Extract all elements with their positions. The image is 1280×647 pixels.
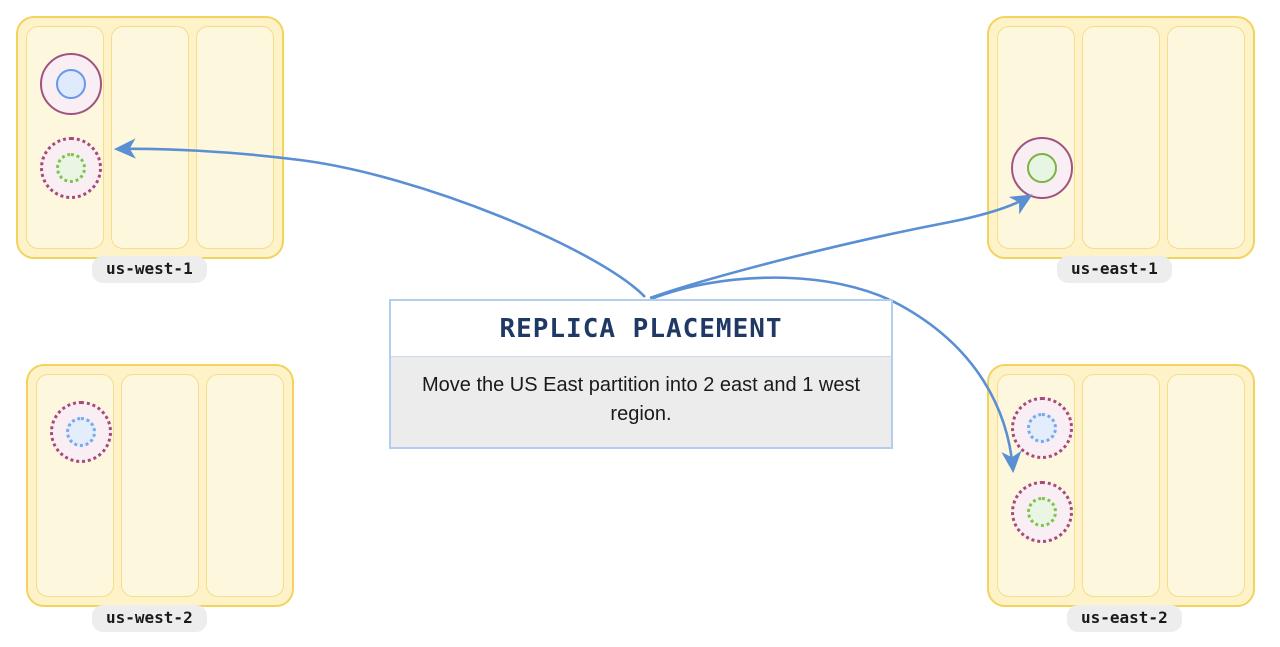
replica-token-solid-blue[interactable] xyxy=(40,53,102,115)
replica-inner-ring-icon xyxy=(56,153,86,183)
replica-token-dotted-green[interactable] xyxy=(1011,481,1073,543)
region-cells xyxy=(997,26,1245,249)
availability-zone-cell[interactable] xyxy=(1082,26,1160,249)
replica-token-dotted-blue[interactable] xyxy=(1011,397,1073,459)
replica-placement-callout: REPLICA PLACEMENT Move the US East parti… xyxy=(389,299,893,449)
availability-zone-cell[interactable] xyxy=(36,374,114,597)
replica-inner-ring-icon xyxy=(1027,497,1057,527)
availability-zone-cell[interactable] xyxy=(111,26,189,249)
arrow-to-us-east-1 xyxy=(650,196,1030,298)
availability-zone-cell[interactable] xyxy=(1082,374,1160,597)
replica-inner-ring-icon xyxy=(56,69,86,99)
region-label-us-east-1: us-east-1 xyxy=(1057,256,1172,283)
region-us-west-1[interactable] xyxy=(16,16,284,259)
availability-zone-cell[interactable] xyxy=(196,26,274,249)
callout-body-text: Move the US East partition into 2 east a… xyxy=(391,356,891,447)
region-us-east-2[interactable] xyxy=(987,364,1255,607)
availability-zone-cell[interactable] xyxy=(1167,26,1245,249)
availability-zone-cell[interactable] xyxy=(206,374,284,597)
availability-zone-cell[interactable] xyxy=(997,374,1075,597)
region-cells xyxy=(26,26,274,249)
replica-token-dotted-green[interactable] xyxy=(40,137,102,199)
availability-zone-cell[interactable] xyxy=(1167,374,1245,597)
region-label-us-west-1: us-west-1 xyxy=(92,256,207,283)
region-us-east-1[interactable] xyxy=(987,16,1255,259)
replica-inner-ring-icon xyxy=(1027,413,1057,443)
replica-inner-ring-icon xyxy=(1027,153,1057,183)
region-us-west-2[interactable] xyxy=(26,364,294,607)
region-label-us-east-2: us-east-2 xyxy=(1067,605,1182,632)
diagram-canvas: us-west-1 us-east-1 xyxy=(0,0,1280,647)
availability-zone-cell[interactable] xyxy=(997,26,1075,249)
callout-title: REPLICA PLACEMENT xyxy=(391,301,891,356)
region-label-us-west-2: us-west-2 xyxy=(92,605,207,632)
region-cells xyxy=(36,374,284,597)
region-cells xyxy=(997,374,1245,597)
replica-token-solid-green[interactable] xyxy=(1011,137,1073,199)
replica-token-dotted-blue[interactable] xyxy=(50,401,112,463)
availability-zone-cell[interactable] xyxy=(26,26,104,249)
availability-zone-cell[interactable] xyxy=(121,374,199,597)
replica-inner-ring-icon xyxy=(66,417,96,447)
